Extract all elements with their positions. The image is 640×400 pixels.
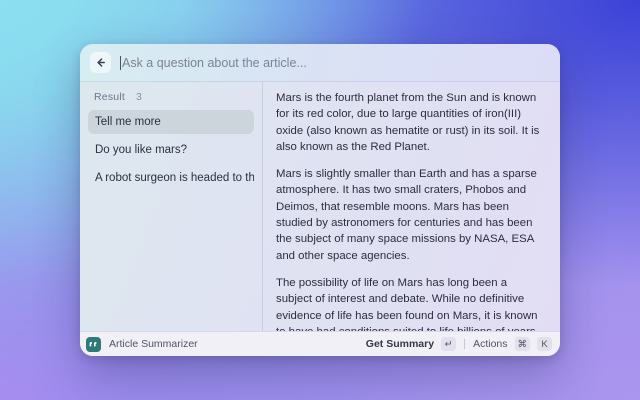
results-label: Result xyxy=(94,91,125,103)
command-key-badge[interactable]: ⌘ xyxy=(515,337,531,351)
sidebar-item-robot-surgeon[interactable]: A robot surgeon is headed to the… xyxy=(88,166,254,190)
quote-icon xyxy=(86,337,101,352)
main-body: Result 3 Tell me more Do you like mars? … xyxy=(80,82,560,331)
results-sidebar: Result 3 Tell me more Do you like mars? … xyxy=(80,82,263,331)
arrow-left-icon xyxy=(95,57,106,68)
k-key-badge[interactable]: K xyxy=(537,337,552,351)
app-name-label: Article Summarizer xyxy=(109,338,198,350)
sidebar-item-tell-me-more[interactable]: Tell me more xyxy=(88,110,254,134)
results-count: 3 xyxy=(136,91,142,103)
search-input[interactable] xyxy=(121,56,550,70)
content-paragraph: Mars is the fourth planet from the Sun a… xyxy=(276,90,546,155)
content-paragraph: The possibility of life on Mars has long… xyxy=(276,275,546,331)
get-summary-button[interactable]: Get Summary xyxy=(366,338,434,350)
search-field-wrap[interactable] xyxy=(120,44,550,81)
footer-actions: Get Summary ↵ Actions ⌘ K xyxy=(366,337,552,351)
enter-key-badge[interactable]: ↵ xyxy=(441,337,456,351)
status-footer: Article Summarizer Get Summary ↵ Actions… xyxy=(80,331,560,356)
article-content[interactable]: Mars is the fourth planet from the Sun a… xyxy=(263,82,560,331)
sidebar-item-do-you-like-mars[interactable]: Do you like mars? xyxy=(88,138,254,162)
search-header xyxy=(80,44,560,82)
article-summarizer-window: Result 3 Tell me more Do you like mars? … xyxy=(80,44,560,356)
results-header: Result 3 xyxy=(88,89,254,110)
content-paragraph: Mars is slightly smaller than Earth and … xyxy=(276,166,546,264)
back-button[interactable] xyxy=(90,52,111,73)
footer-divider xyxy=(464,339,465,349)
actions-button[interactable]: Actions xyxy=(473,338,507,350)
